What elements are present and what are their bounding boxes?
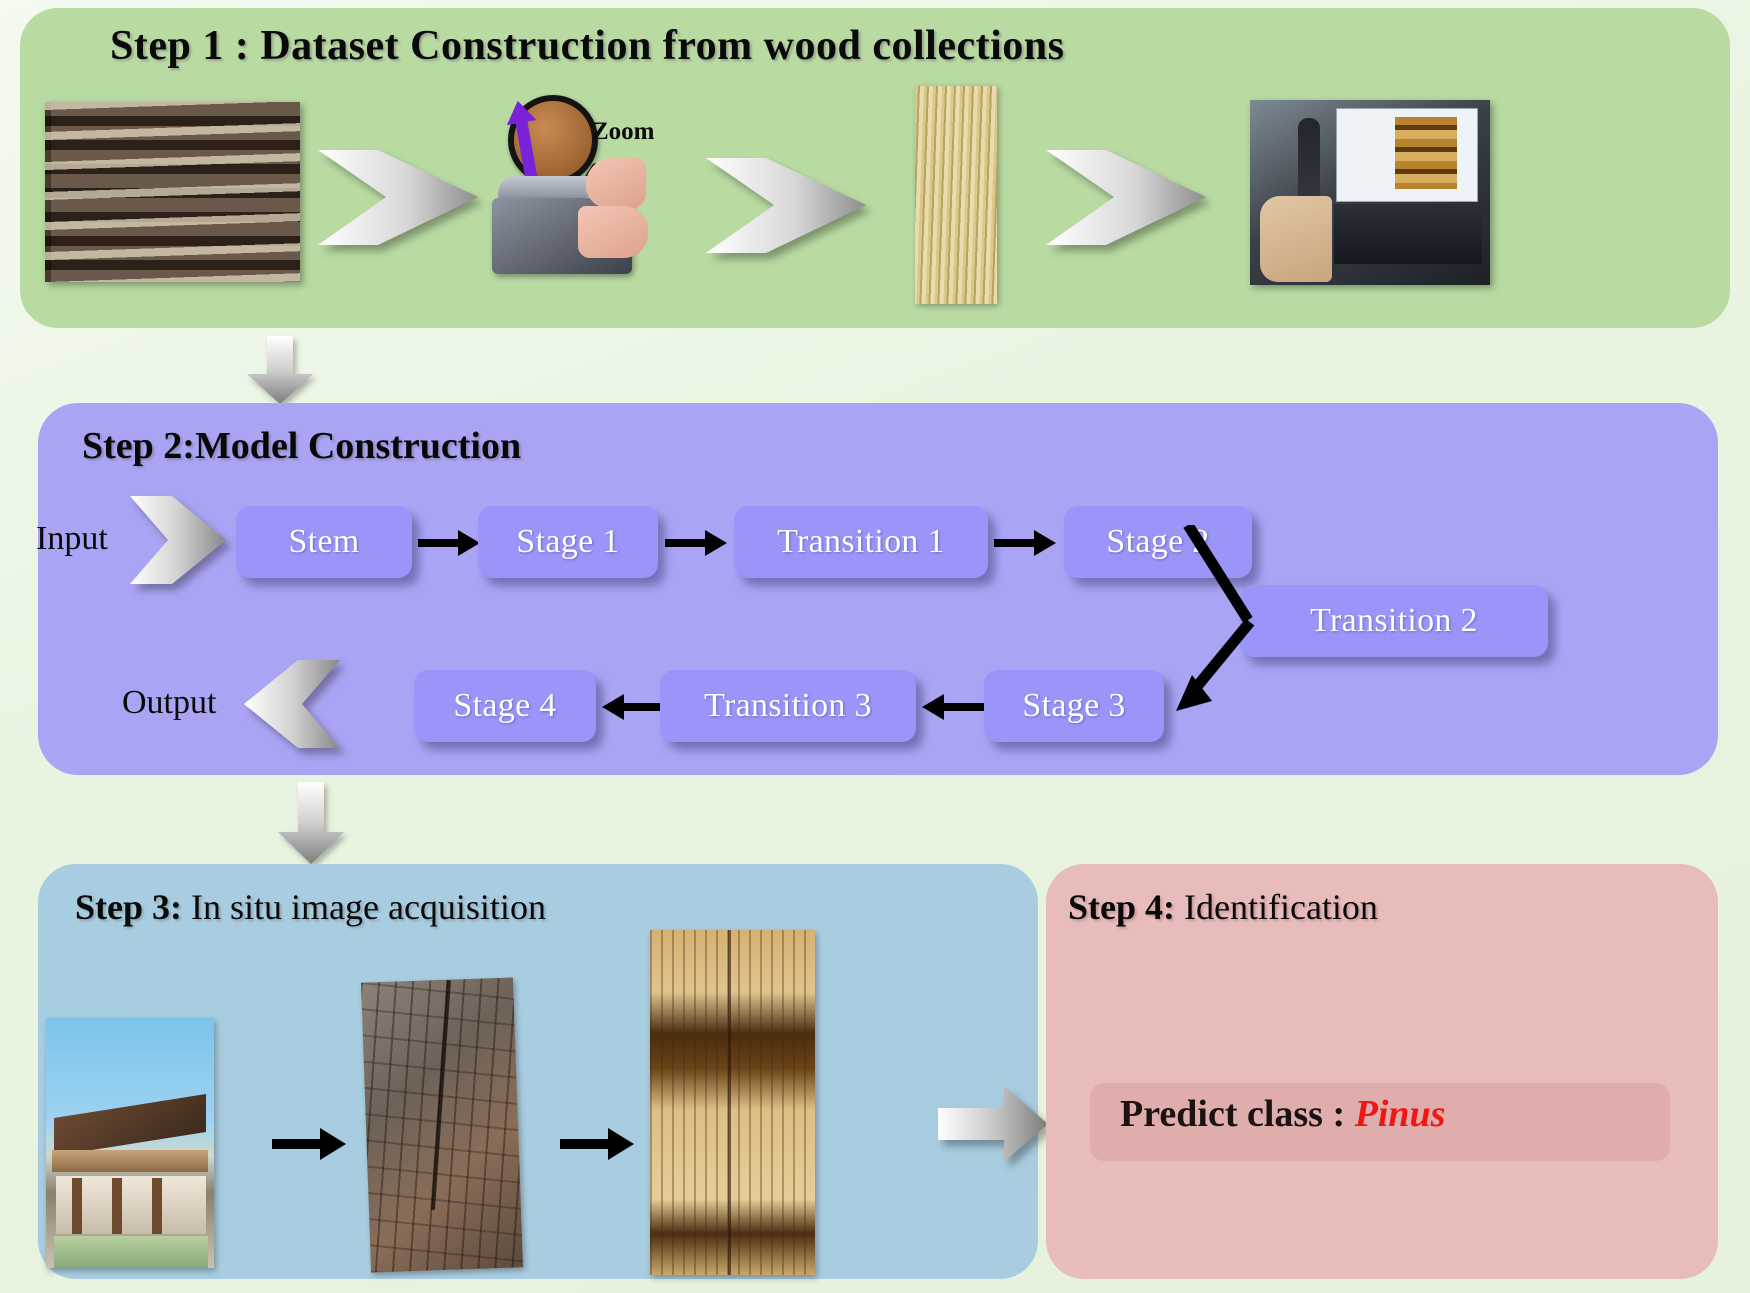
step4-title: Step 4: Identification — [1068, 886, 1378, 928]
predict-prefix: Predict class : — [1120, 1093, 1355, 1135]
step1-to-step2-arrow — [245, 336, 315, 404]
step3-title: Step 3: In situ image acquisition — [75, 886, 546, 928]
step4-title-bold: Step 4: — [1068, 887, 1175, 927]
node-stage-4[interactable]: Stage 4 — [414, 670, 596, 742]
step3-arrow-1 — [272, 1128, 346, 1160]
laptop-keyboard — [1334, 204, 1482, 264]
arrow-stage3-transition3 — [922, 694, 984, 720]
arrow-transition1-stage2 — [994, 530, 1056, 556]
node-stage-3[interactable]: Stage 3 — [984, 670, 1164, 742]
step1-arrow-2 — [706, 158, 866, 253]
hand-holding-microscope — [1260, 196, 1332, 282]
predict-class-value: Pinus — [1355, 1093, 1446, 1135]
ancient-building-photo — [46, 1018, 214, 1268]
arrow-stem-stage1 — [418, 530, 480, 556]
laptop-microscope-photo — [1250, 100, 1490, 285]
arrow-stage2-transition2-stage3 — [1140, 525, 1480, 730]
step3-title-bold: Step 3: — [75, 887, 182, 927]
step4-title-rest: Identification — [1175, 887, 1378, 927]
sectioning-vise-photo — [480, 120, 670, 285]
step1-title: Step 1 : Dataset Construction from wood … — [110, 22, 1064, 70]
wood-collection-drawers-photo — [45, 102, 300, 282]
step2-to-step3-arrow — [276, 782, 346, 864]
input-label: Input — [36, 520, 108, 558]
node-stage-1[interactable]: Stage 1 — [478, 506, 658, 578]
step3-title-rest: In situ image acquisition — [182, 887, 546, 927]
wood-surface-photo — [915, 86, 997, 304]
step1-arrow-1 — [318, 150, 478, 245]
step2-title: Step 2:Model Construction — [82, 424, 521, 468]
step3-to-step4-arrow — [938, 1086, 1048, 1162]
arrow-transition3-stage4 — [602, 694, 664, 720]
hand-upper — [586, 158, 646, 208]
node-stem[interactable]: Stem — [236, 506, 412, 578]
screen-wood-image — [1395, 117, 1457, 189]
laptop-screen — [1336, 108, 1478, 202]
weathered-timber-photo — [361, 977, 523, 1272]
input-arrow — [130, 496, 226, 584]
hand-lower — [578, 206, 648, 258]
micro-wood-texture-photo — [650, 930, 815, 1275]
node-transition-1[interactable]: Transition 1 — [734, 506, 988, 578]
predict-result-text: Predict class : Pinus — [1120, 1092, 1445, 1136]
step1-arrow-3 — [1046, 150, 1206, 245]
arrow-stage1-transition1 — [665, 530, 727, 556]
node-transition-3[interactable]: Transition 3 — [660, 670, 916, 742]
output-label: Output — [122, 684, 216, 722]
step3-arrow-2 — [560, 1128, 634, 1160]
output-arrow — [244, 660, 340, 748]
